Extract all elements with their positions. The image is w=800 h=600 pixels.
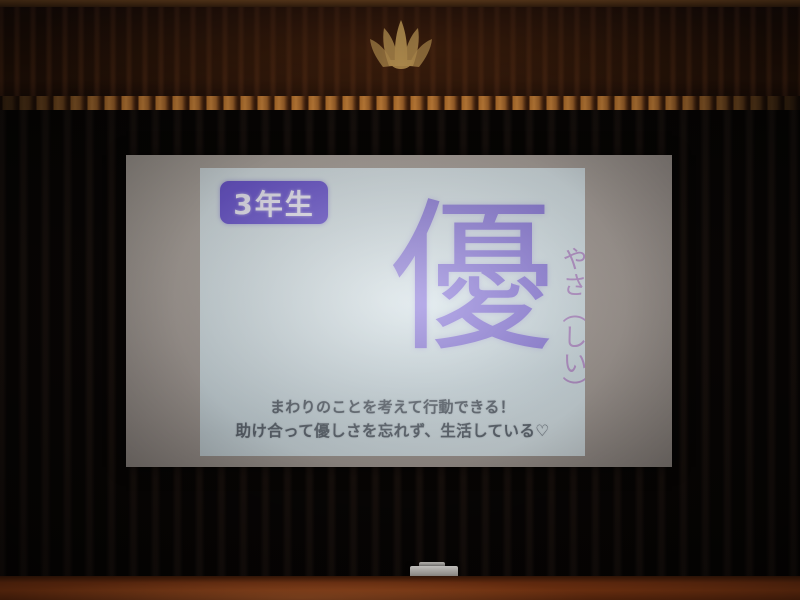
grade-badge: 3年生 [220,181,328,224]
gold-lotus-ornament-icon [362,16,440,72]
grade-badge-label: 3年生 [233,183,314,223]
auditorium-stage-photo: 3年生 優 やさ（しい） まわりのことを考えて行動できる！ 助け合って優しさを忘… [0,0,800,600]
stage-floor-sheen [0,576,800,600]
furigana-reading: やさ（しい） [552,246,585,402]
slide-caption: まわりのことを考えて行動できる！ 助け合って優しさを忘れず、生活している♡ [200,396,585,443]
presentation-slide: 3年生 優 やさ（しい） まわりのことを考えて行動できる！ 助け合って優しさを忘… [200,168,585,456]
caption-line-2: 助け合って優しさを忘れず、生活している♡ [200,419,585,443]
caption-line-1: まわりのことを考えて行動できる！ [200,396,585,419]
main-kanji-character: 優 [382,204,562,355]
projection-screen: 3年生 優 やさ（しい） まわりのことを考えて行動できる！ 助け合って優しさを忘… [126,155,672,467]
